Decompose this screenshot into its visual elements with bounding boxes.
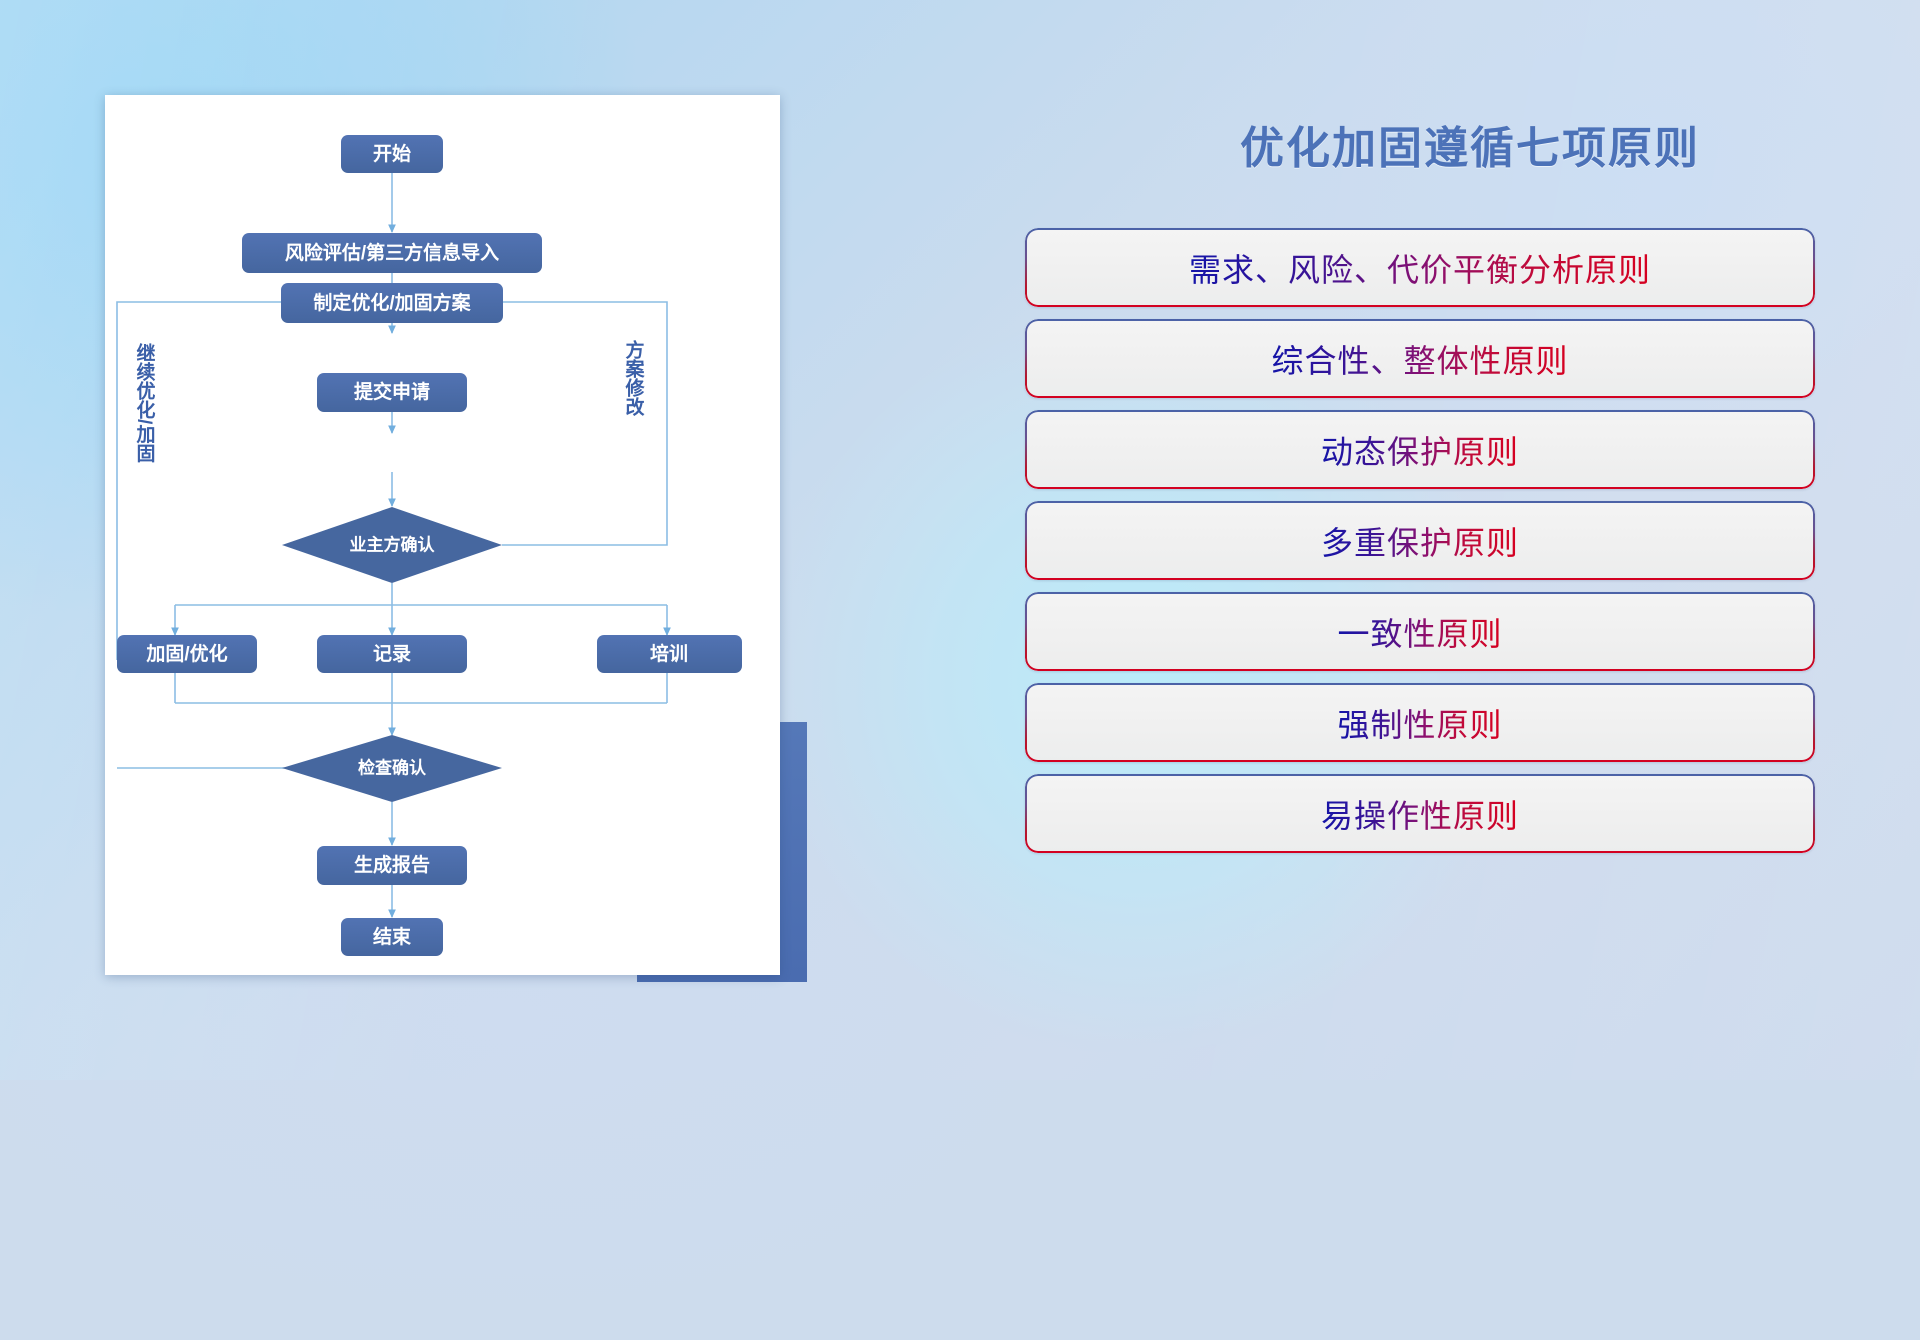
flow-node-risk-assessment[interactable]: 风险评估/第三方信息导入	[242, 233, 542, 273]
principles-list: 需求、风险、代价平衡分析原则 综合性、整体性原则 动态保护原则 多重保护原则 一…	[1025, 228, 1815, 865]
flow-node-generate-report-label: 生成报告	[354, 853, 430, 876]
flow-node-training-label: 培训	[650, 642, 688, 665]
principle-label-5: 一致性原则	[1337, 609, 1502, 655]
flow-edge-label-plan-revision: 方案修改	[623, 339, 646, 417]
principle-card-5[interactable]: 一致性原则	[1025, 592, 1815, 671]
flowchart-panel: 开始 风险评估/第三方信息导入 制定优化/加固方案 提交申请 业主方确认	[0, 0, 860, 1080]
principle-card-7[interactable]: 易操作性原则	[1025, 774, 1815, 853]
flow-node-generate-report[interactable]: 生成报告	[317, 846, 467, 885]
flow-node-owner-confirm-label: 业主方确认	[350, 534, 436, 554]
flow-node-submit-application[interactable]: 提交申请	[317, 373, 467, 412]
flow-edge-label-continue-optimize: 继续优化/加固	[134, 342, 157, 463]
principle-label-6: 强制性原则	[1337, 700, 1502, 746]
principle-card-3[interactable]: 动态保护原则	[1025, 410, 1815, 489]
flow-node-make-plan[interactable]: 制定优化/加固方案	[281, 283, 503, 323]
flow-node-end[interactable]: 结束	[341, 918, 443, 956]
principle-label-4: 多重保护原则	[1321, 518, 1519, 564]
flow-node-check-confirm[interactable]: 检查确认	[282, 735, 502, 802]
flow-node-check-confirm-label: 检查确认	[358, 757, 427, 777]
flow-node-record-label: 记录	[373, 643, 411, 665]
flow-node-end-label: 结束	[373, 925, 412, 948]
principles-panel-title: 优化加固遵循七项原则	[1020, 112, 1920, 176]
principle-label-1: 需求、风险、代价平衡分析原则	[1189, 245, 1651, 291]
flowchart-diagram: 开始 风险评估/第三方信息导入 制定优化/加固方案 提交申请 业主方确认	[105, 95, 780, 975]
principle-label-3: 动态保护原则	[1321, 427, 1519, 473]
principle-card-1[interactable]: 需求、风险、代价平衡分析原则	[1025, 228, 1815, 307]
flowchart-card: 开始 风险评估/第三方信息导入 制定优化/加固方案 提交申请 业主方确认	[105, 95, 780, 975]
flow-node-start[interactable]: 开始	[341, 135, 443, 173]
flow-node-training[interactable]: 培训	[597, 635, 742, 673]
flow-node-owner-confirm[interactable]: 业主方确认	[282, 507, 502, 583]
flow-node-start-label: 开始	[373, 142, 411, 165]
flow-node-submit-application-label: 提交申请	[354, 380, 430, 403]
principle-card-6[interactable]: 强制性原则	[1025, 683, 1815, 762]
flow-node-risk-assessment-label: 风险评估/第三方信息导入	[285, 241, 499, 264]
flow-node-reinforce-label: 加固/优化	[145, 642, 227, 665]
flow-node-reinforce[interactable]: 加固/优化	[117, 635, 257, 673]
principle-card-4[interactable]: 多重保护原则	[1025, 501, 1815, 580]
flow-node-make-plan-label: 制定优化/加固方案	[313, 291, 471, 314]
principle-label-2: 综合性、整体性原则	[1271, 336, 1568, 382]
flow-node-record[interactable]: 记录	[317, 635, 467, 673]
principles-panel: 优化加固遵循七项原则 需求、风险、代价平衡分析原则 综合性、整体性原则 动态保护…	[1020, 0, 1920, 1080]
principle-card-2[interactable]: 综合性、整体性原则	[1025, 319, 1815, 398]
principle-label-7: 易操作性原则	[1321, 791, 1519, 837]
